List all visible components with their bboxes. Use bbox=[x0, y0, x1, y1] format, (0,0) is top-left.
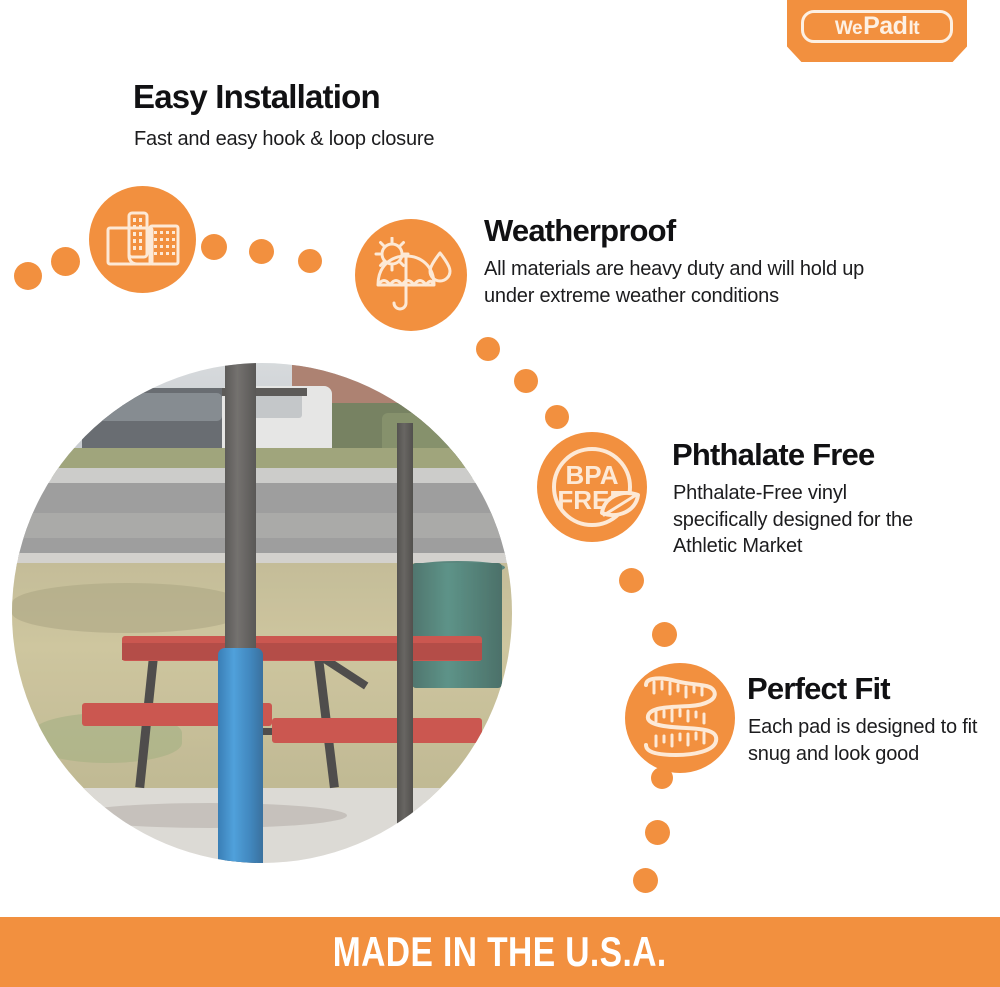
trail-dot bbox=[51, 247, 80, 276]
feature-body-weatherproof: All materials are heavy duty and will ho… bbox=[484, 256, 904, 309]
logo-outline-box: WePadIt bbox=[801, 10, 953, 43]
logo-wordmark: WePadIt bbox=[835, 14, 919, 39]
feature-title-phthalate-free: Phthalate Free bbox=[672, 437, 874, 473]
feature-icon-phthalate-free: BPA FREE bbox=[537, 432, 647, 542]
logo-word-it: It bbox=[908, 19, 919, 38]
trail-dot bbox=[545, 405, 569, 429]
made-in-usa-text: MADE IN THE U.S.A. bbox=[333, 928, 667, 976]
product-feature-infographic: WePadIt bbox=[0, 0, 1000, 987]
trail-dot bbox=[249, 239, 274, 264]
feature-title-perfect-fit: Perfect Fit bbox=[747, 671, 890, 707]
feature-title-weatherproof: Weatherproof bbox=[484, 213, 675, 249]
trail-dot bbox=[645, 820, 670, 845]
logo-word-pad: Pad bbox=[863, 14, 907, 39]
measuring-tape-icon bbox=[636, 673, 724, 763]
feature-icon-weatherproof bbox=[355, 219, 467, 331]
trail-dot bbox=[633, 868, 658, 893]
sun-umbrella-raindrop-icon bbox=[370, 237, 452, 313]
product-photo bbox=[12, 363, 512, 863]
photo-overlay bbox=[12, 363, 512, 863]
trail-dot bbox=[652, 622, 677, 647]
made-in-usa-banner: MADE IN THE U.S.A. bbox=[0, 917, 1000, 987]
trail-dot bbox=[201, 234, 227, 260]
brand-logo[interactable]: WePadIt bbox=[787, 0, 967, 62]
logo-word-we: We bbox=[835, 19, 862, 38]
feature-icon-easy-installation bbox=[89, 186, 196, 293]
feature-body-phthalate-free: Phthalate-Free vinyl specifically design… bbox=[673, 480, 943, 560]
trail-dot bbox=[476, 337, 500, 361]
trail-dot bbox=[298, 249, 322, 273]
feature-body-perfect-fit: Each pad is designed to fit snug and loo… bbox=[748, 714, 978, 767]
trail-dot bbox=[14, 262, 42, 290]
hook-and-loop-icon bbox=[105, 209, 181, 271]
trail-dot bbox=[514, 369, 538, 393]
trail-dot bbox=[619, 568, 644, 593]
feature-icon-perfect-fit bbox=[625, 663, 735, 773]
feature-title-easy-installation: Easy Installation bbox=[133, 78, 380, 116]
feature-body-easy-installation: Fast and easy hook & loop closure bbox=[134, 126, 554, 153]
bpa-free-leaf-icon: BPA FREE bbox=[542, 437, 642, 537]
